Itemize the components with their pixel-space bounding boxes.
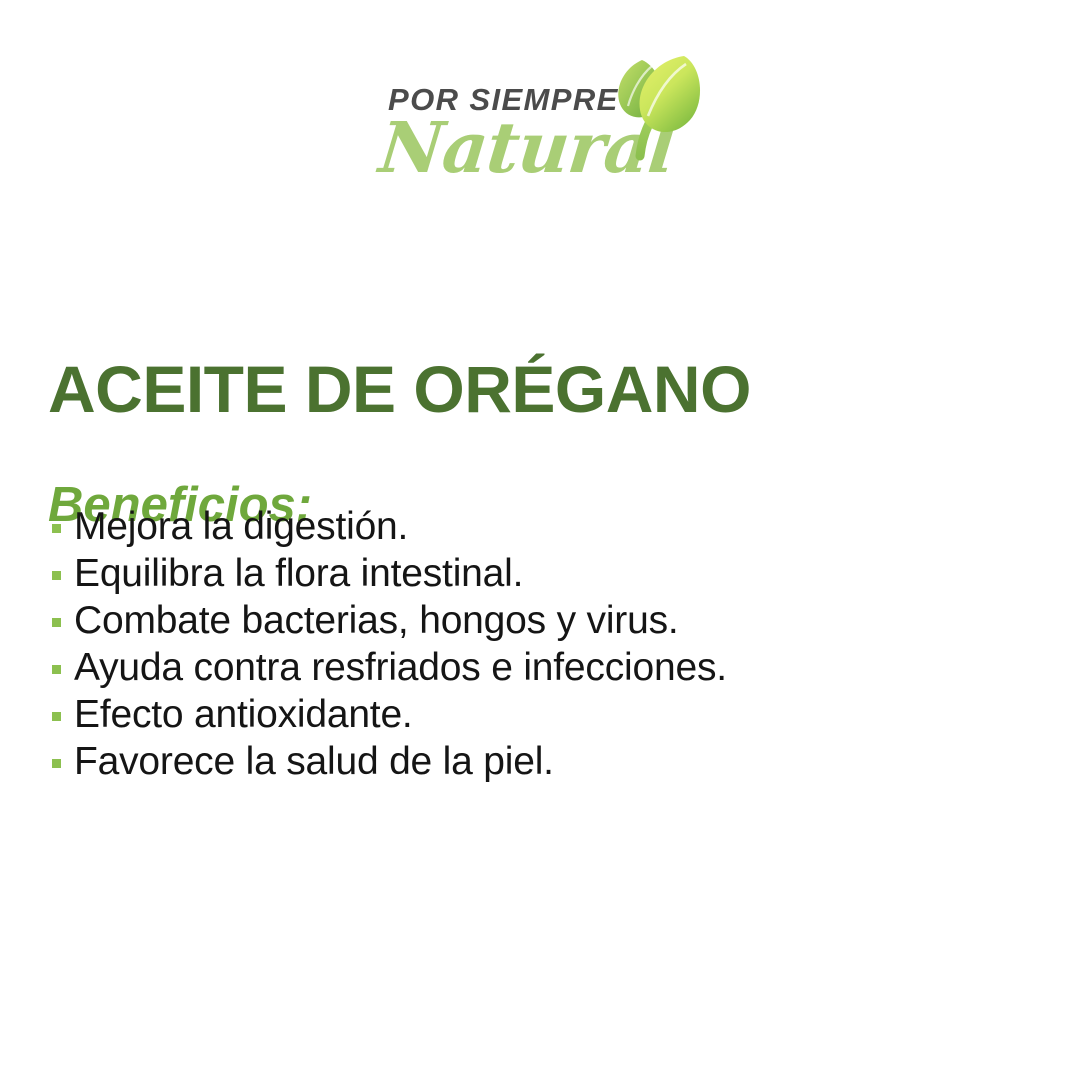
list-item: Equilibra la flora intestinal. [52, 550, 952, 597]
list-item-label: Efecto antioxidante. [74, 691, 413, 738]
page-title: ACEITE DE ORÉGANO [48, 356, 751, 422]
poster-canvas: POR SIEMPRE Natural [0, 0, 1080, 1080]
bullet-square-icon [52, 618, 61, 627]
leaf-icon [598, 46, 708, 166]
bullet-square-icon [52, 665, 61, 674]
brand-logo: POR SIEMPRE Natural [0, 48, 1080, 198]
list-item-label: Mejora la digestión. [74, 503, 408, 550]
list-item: Favorece la salud de la piel. [52, 738, 952, 785]
list-item-label: Combate bacterias, hongos y virus. [74, 597, 679, 644]
list-item: Efecto antioxidante. [52, 691, 952, 738]
bullet-square-icon [52, 712, 61, 721]
list-item: Ayuda contra resfriados e infecciones. [52, 644, 952, 691]
bullet-square-icon [52, 524, 61, 533]
list-item-label: Favorece la salud de la piel. [74, 738, 554, 785]
bullet-square-icon [52, 759, 61, 768]
brand-logo-inner: POR SIEMPRE Natural [380, 48, 700, 198]
bullet-square-icon [52, 571, 61, 580]
list-item-label: Ayuda contra resfriados e infecciones. [74, 644, 727, 691]
list-item: Mejora la digestión. [52, 503, 952, 550]
list-item: Combate bacterias, hongos y virus. [52, 597, 952, 644]
benefits-list: Mejora la digestión. Equilibra la flora … [52, 503, 952, 785]
list-item-label: Equilibra la flora intestinal. [74, 550, 523, 597]
